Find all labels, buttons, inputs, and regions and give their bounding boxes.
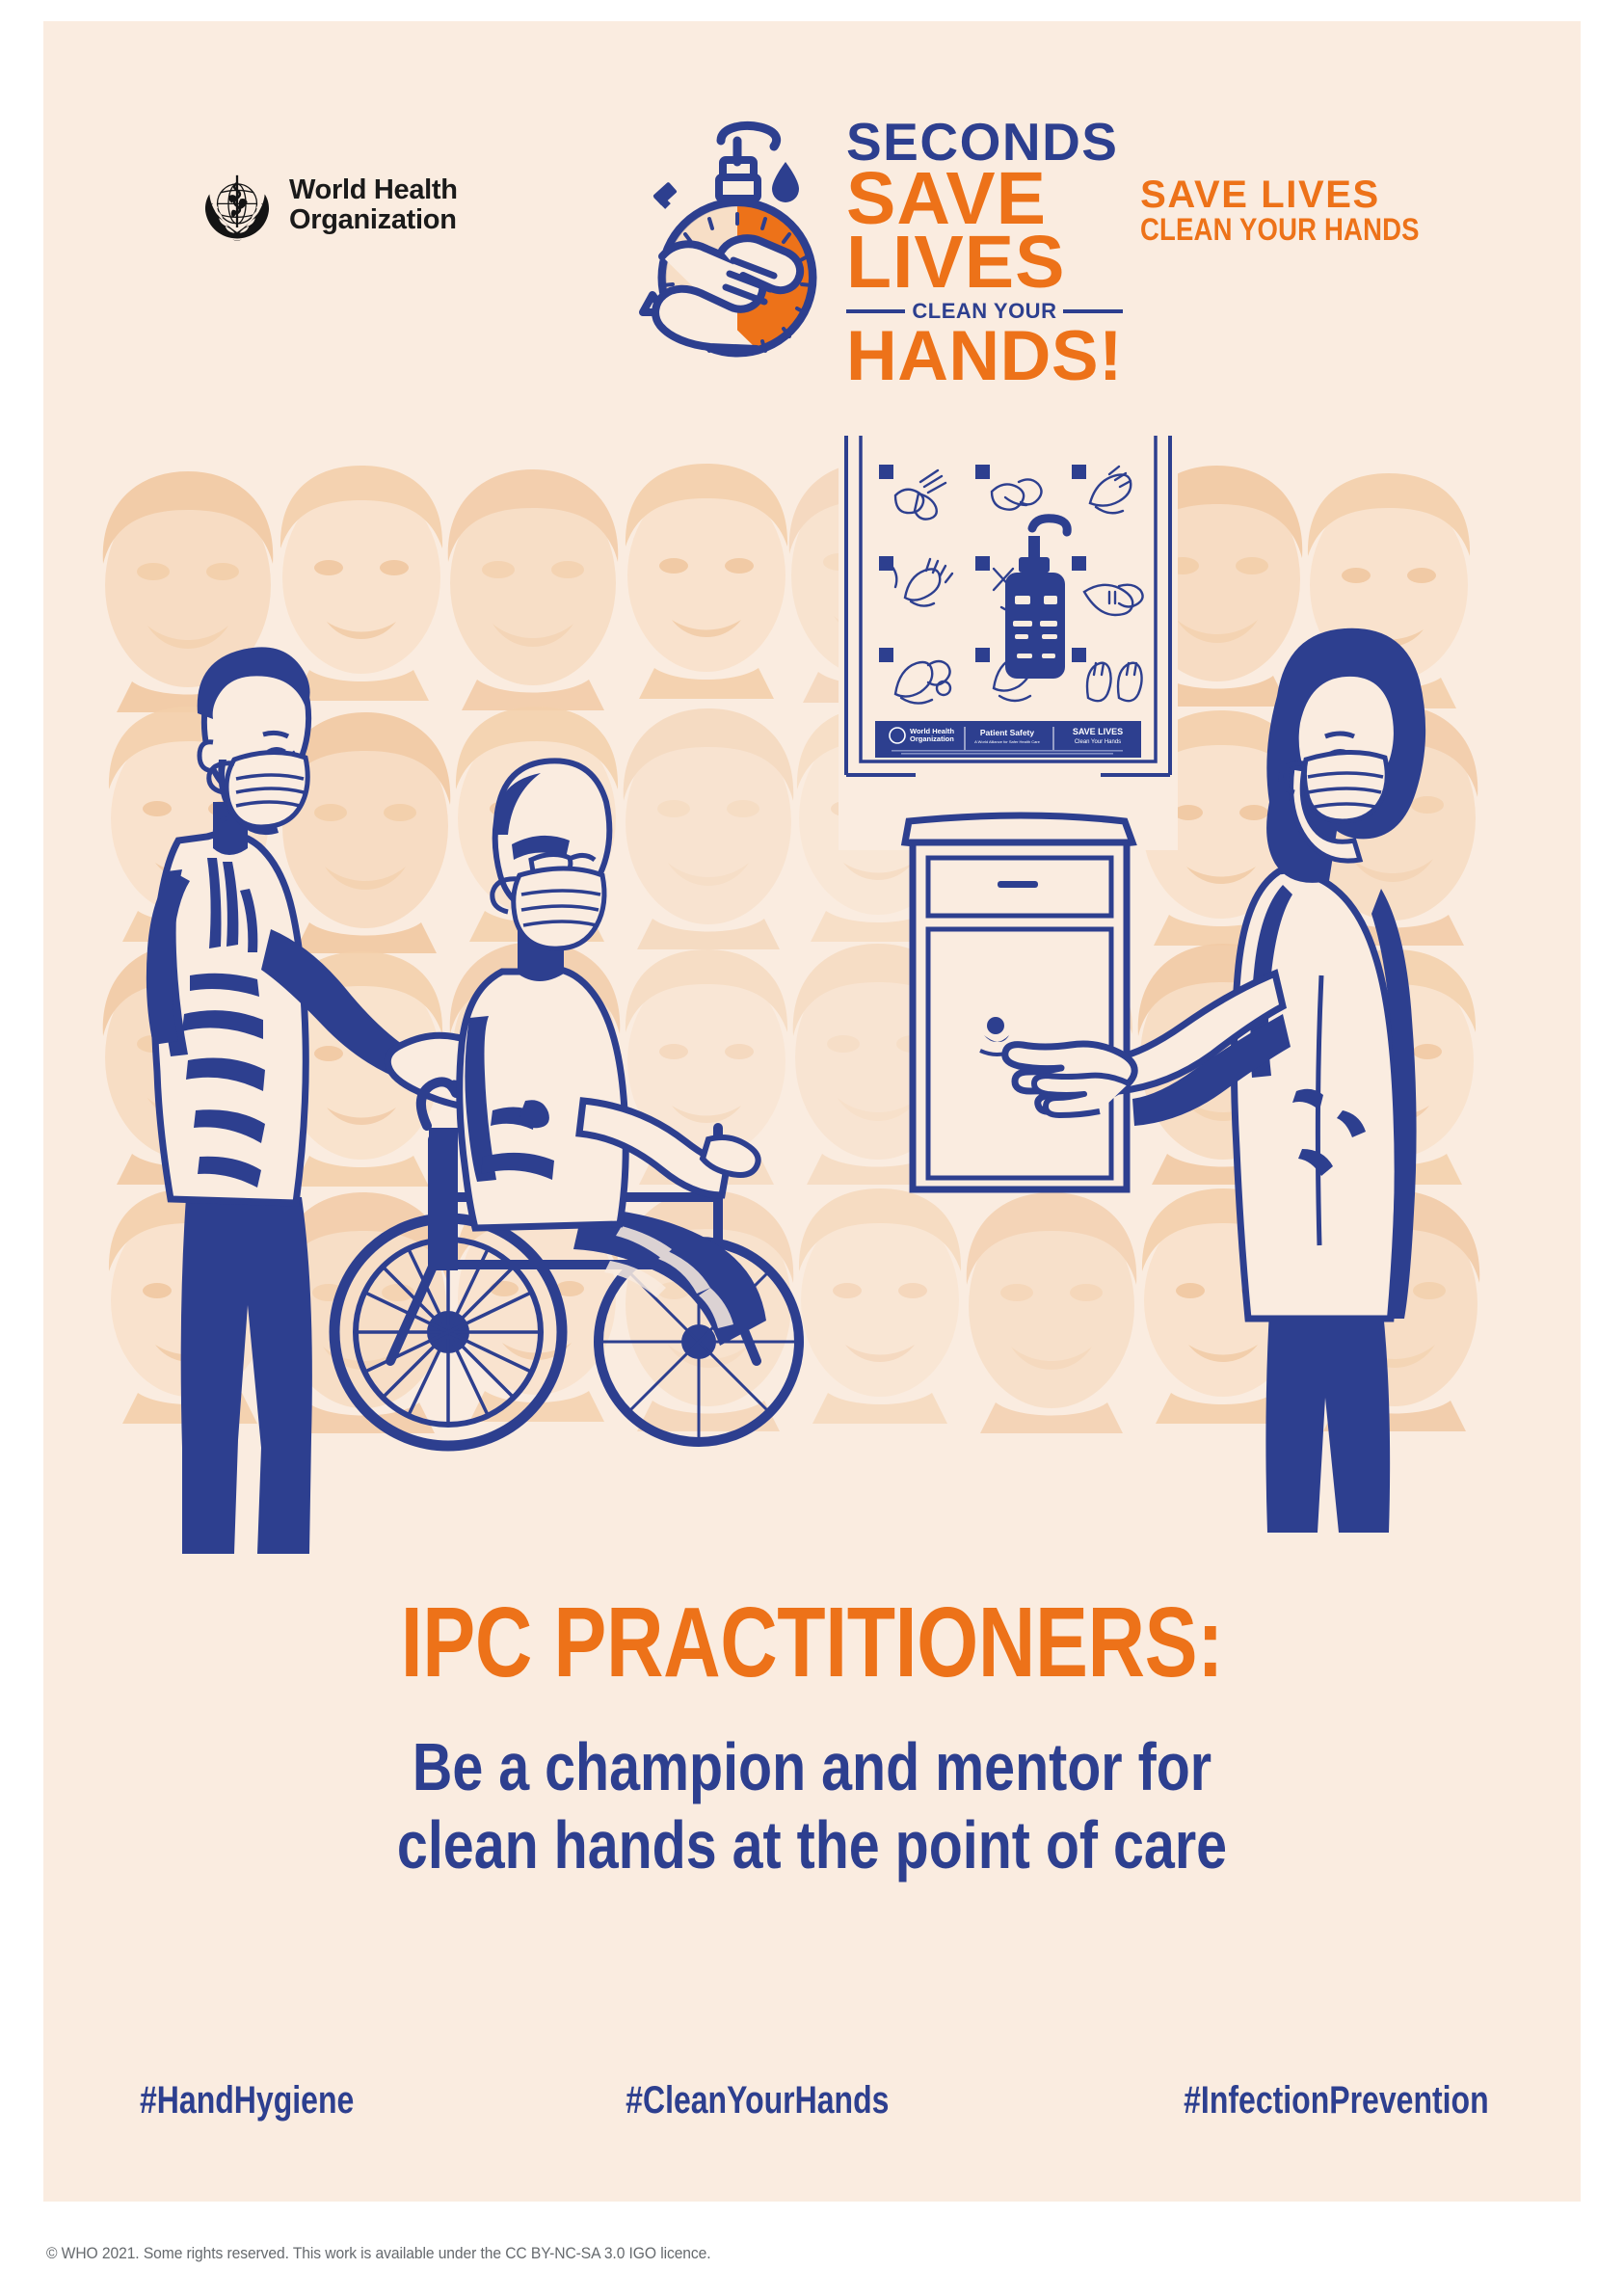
- who-name-line2: Organization: [289, 205, 458, 235]
- campaign-lives: LIVES: [846, 230, 1123, 294]
- wall-poster-save-lives: SAVE LIVES: [1073, 727, 1123, 736]
- tagline-clean-your-hands: CLEAN YOUR HANDS: [1140, 214, 1420, 247]
- wall-poster-footer-bar: World Health Organization Patient Safety…: [875, 721, 1141, 758]
- headline-message-line2: clean hands at the point of care: [182, 1806, 1443, 1884]
- rule-left-divider: [846, 309, 905, 313]
- hashtag-hand-hygiene[interactable]: #HandHygiene: [140, 2079, 354, 2122]
- headline-audience: IPC PRACTITIONERS:: [198, 1592, 1427, 1692]
- campaign-logo: SECONDS SAVE LIVES CLEAN YOUR HANDS!: [629, 106, 1082, 376]
- scene-svg: How to Handrub?: [43, 436, 1581, 1554]
- campaign-wordmark: SECONDS SAVE LIVES CLEAN YOUR HANDS!: [846, 106, 1123, 387]
- patient-wheelchair-figure: [334, 761, 799, 1446]
- soap-dispenser-stopwatch-hands-icon: [629, 106, 837, 376]
- hashtag-infection-prevention[interactable]: #InfectionPrevention: [1184, 2079, 1489, 2122]
- wall-poster-who-line2: Organization: [910, 734, 954, 743]
- headline-message-line1: Be a champion and mentor for: [182, 1728, 1443, 1806]
- hashtag-row: #HandHygiene #CleanYourHands #InfectionP…: [140, 2079, 1489, 2122]
- hashtag-clean-your-hands[interactable]: #CleanYourHands: [626, 2079, 889, 2122]
- tagline: SAVE LIVES CLEAN YOUR HANDS: [1140, 175, 1465, 247]
- tagline-save-lives: SAVE LIVES: [1140, 175, 1465, 214]
- who-logo: World Health Organization: [198, 166, 458, 245]
- wall-poster-title: How to Handrub?: [876, 436, 1141, 440]
- who-emblem-icon: [198, 166, 277, 245]
- bedside-table: [905, 815, 1132, 1189]
- who-logo-text: World Health Organization: [289, 175, 458, 236]
- drawer-handle: [998, 881, 1038, 888]
- campaign-hands: HANDS!: [846, 326, 1123, 387]
- rule-right-divider: [1063, 309, 1122, 313]
- wall-poster-clean-your-hands: Clean Your Hands: [1075, 739, 1121, 745]
- poster-page: World Health Organization: [0, 0, 1624, 2296]
- headline-message: Be a champion and mentor for clean hands…: [182, 1728, 1443, 1884]
- illustration-scene: How to Handrub?: [43, 436, 1581, 1554]
- patient-face-mask: [493, 868, 604, 948]
- wall-poster-patient-safety-sub: A World Alliance for Safer Health Care: [974, 739, 1041, 744]
- wall-poster-patient-safety: Patient Safety: [980, 728, 1034, 737]
- copyright-notice: © WHO 2021. Some rights reserved. This w…: [46, 2244, 710, 2263]
- poster-panel: World Health Organization: [43, 21, 1581, 2202]
- headline-block: IPC PRACTITIONERS: Be a champion and men…: [43, 1592, 1581, 1884]
- who-name-line1: World Health: [289, 175, 458, 205]
